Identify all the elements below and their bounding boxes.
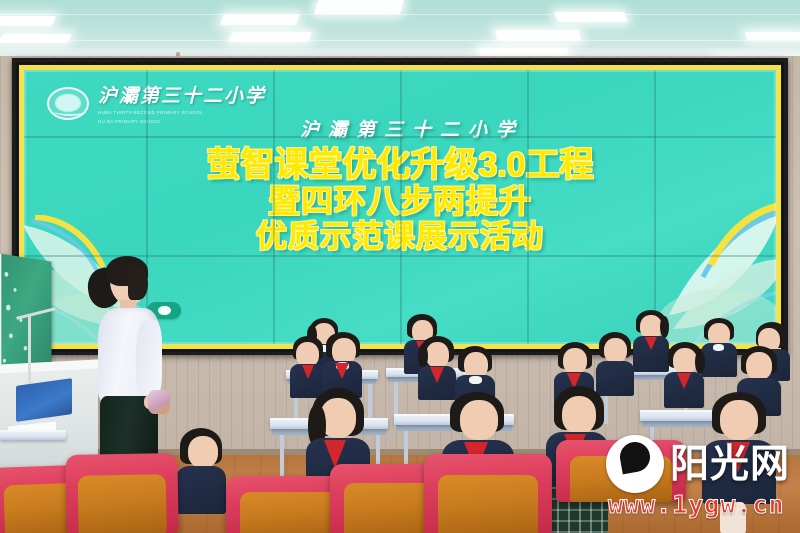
watermark-url: www.1ygw.cn (608, 490, 785, 519)
teacher-hair-side (128, 266, 148, 300)
microphone-stand (28, 316, 31, 384)
student (176, 428, 228, 533)
panel-seam (527, 65, 529, 349)
auditorium-seat[interactable] (424, 454, 552, 533)
ceiling-seam (0, 40, 800, 41)
watermark-row: 阳光网 (606, 435, 790, 493)
teacher-held-object (148, 390, 170, 414)
panel-seam (400, 65, 402, 349)
panel-seam (19, 136, 781, 138)
ceiling-seam (0, 14, 800, 15)
sun-eye-logo-icon (606, 435, 664, 493)
panel-seam (654, 65, 656, 349)
auditorium-seat[interactable] (65, 453, 178, 533)
seat-cushion (78, 474, 166, 533)
seat-cushion (438, 475, 538, 533)
ceiling-light-panel (314, 0, 404, 14)
seat-cushion (240, 492, 338, 533)
ceiling-light-panel (0, 34, 72, 43)
desk (0, 430, 66, 440)
watermark-site-name: 阳光网 (670, 445, 790, 484)
school-name-cn: 沪灞第三十二小学 (98, 81, 266, 108)
teacher (86, 258, 172, 473)
ceiling (0, 0, 800, 62)
panel-seam (273, 65, 275, 349)
site-watermark: 阳光网 www.1ygw.cn (606, 435, 790, 519)
screenshot-root: 沪灞第三十二小学 HUBA THIRTY-SECOND PRIMARY SCHO… (0, 0, 800, 533)
teacher-arm (136, 320, 162, 400)
student (418, 336, 458, 400)
ceiling-light-panel (220, 14, 300, 25)
ceiling-light-panel (744, 32, 800, 40)
ceiling-light-panel (0, 16, 56, 26)
